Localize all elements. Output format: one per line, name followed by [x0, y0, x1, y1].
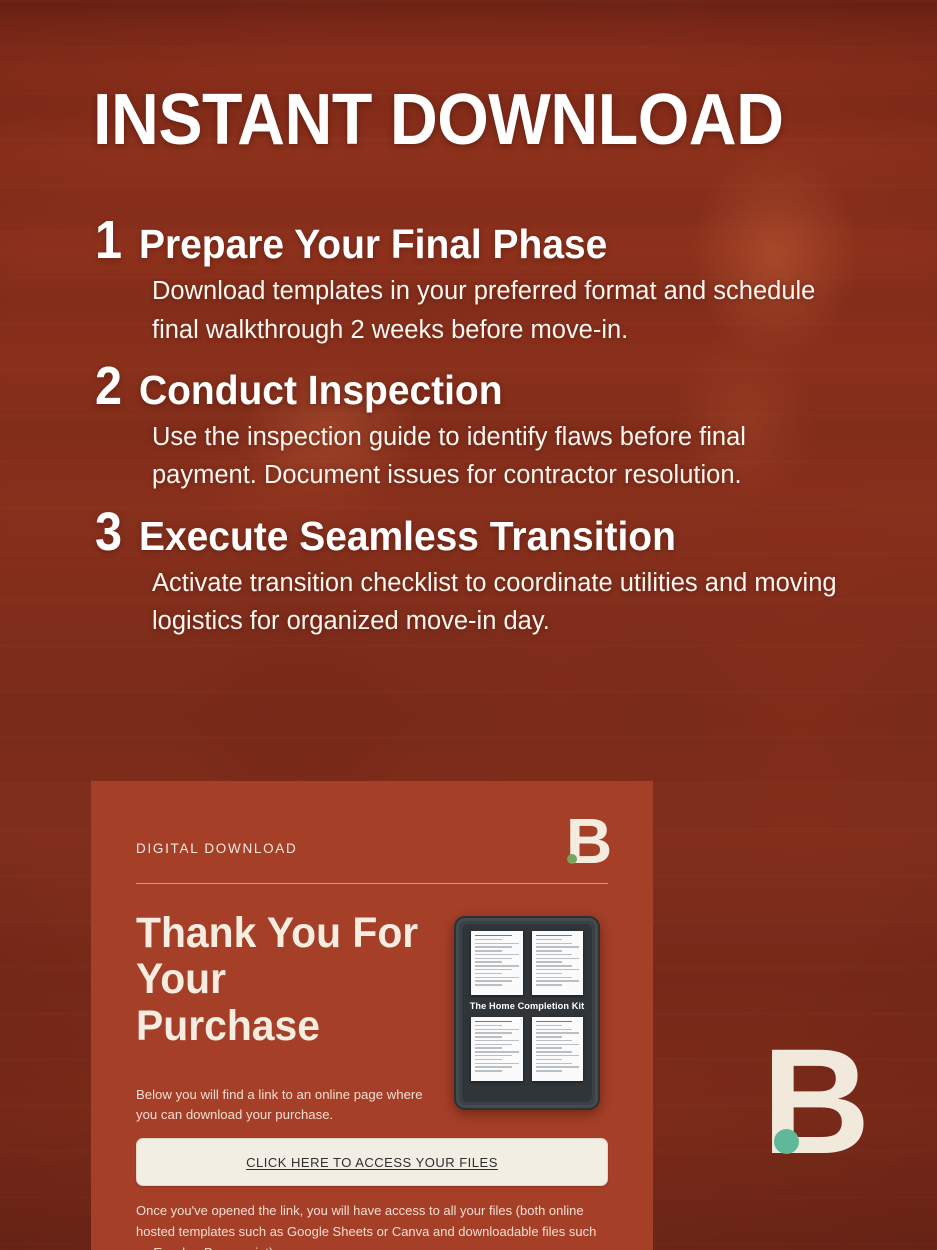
step-description: Use the inspection guide to identify fla… — [152, 418, 852, 495]
brand-watermark-logo: B — [762, 1040, 862, 1162]
access-files-button-label: CLICK HERE TO ACCESS YOUR FILES — [246, 1155, 498, 1170]
step-description: Download templates in your preferred for… — [152, 272, 852, 349]
card-brand-logo: B — [566, 815, 608, 867]
step-number: 2 — [95, 361, 122, 412]
card-kicker-label: DIGITAL DOWNLOAD — [136, 815, 297, 856]
step-title: Execute Seamless Transition — [139, 515, 676, 558]
step-header: 1 Prepare Your Final Phase — [95, 215, 885, 266]
document-page-thumbnail — [532, 931, 584, 995]
step-number: 1 — [95, 215, 122, 266]
step-title: Prepare Your Final Phase — [139, 223, 607, 266]
brand-green-dot-icon — [774, 1129, 799, 1154]
divider — [136, 883, 608, 884]
list-item: 2 Conduct Inspection Use the inspection … — [95, 361, 885, 495]
tablet-kit-title: The Home Completion Kit — [470, 1001, 585, 1011]
access-files-button[interactable]: CLICK HERE TO ACCESS YOUR FILES — [136, 1138, 608, 1186]
document-page-thumbnail — [532, 1017, 584, 1081]
document-page-row — [471, 931, 583, 995]
document-page-thumbnail — [471, 1017, 523, 1081]
tablet-mockup: The Home Completion Kit — [454, 916, 600, 1110]
document-page-thumbnail — [471, 931, 523, 995]
fineprint-text: Once you've opened the link, you will ha… — [136, 1200, 608, 1250]
step-title: Conduct Inspection — [139, 369, 503, 412]
step-description: Activate transition checklist to coordin… — [152, 564, 852, 641]
page-title: INSTANT DOWNLOAD — [93, 84, 784, 156]
card-header: DIGITAL DOWNLOAD B — [136, 815, 608, 867]
card-body: Thank You For Your Purchase Below you wi… — [136, 910, 608, 1124]
document-page-row — [471, 1017, 583, 1081]
list-item: 3 Execute Seamless Transition Activate t… — [95, 507, 885, 641]
steps-list: 1 Prepare Your Final Phase Download temp… — [95, 215, 885, 652]
step-number: 3 — [95, 507, 122, 558]
tablet-screen: The Home Completion Kit — [462, 924, 592, 1102]
thank-you-heading: Thank You For Your Purchase — [136, 910, 421, 1049]
brand-green-dot-icon — [567, 854, 577, 864]
step-header: 3 Execute Seamless Transition — [95, 507, 885, 558]
download-card: DIGITAL DOWNLOAD B Thank You For Your Pu… — [91, 781, 653, 1250]
list-item: 1 Prepare Your Final Phase Download temp… — [95, 215, 885, 349]
card-text-column: Thank You For Your Purchase Below you wi… — [136, 910, 436, 1124]
download-instructions: Below you will find a link to an online … — [136, 1085, 436, 1124]
step-header: 2 Conduct Inspection — [95, 361, 885, 412]
